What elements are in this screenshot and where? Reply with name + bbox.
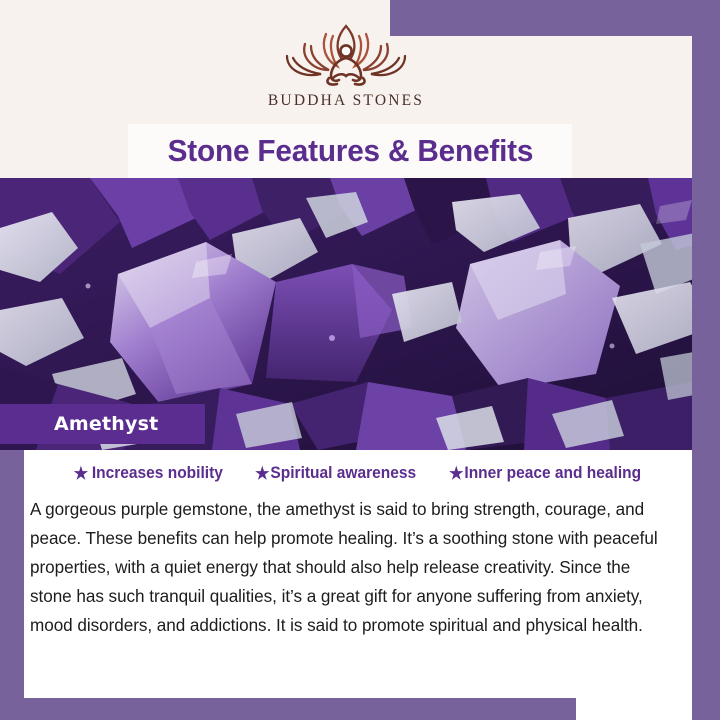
page-title: Stone Features & Benefits: [167, 133, 533, 169]
frame-top-bar: [390, 0, 720, 36]
stone-description: A gorgeous purple gemstone, the amethyst…: [30, 495, 672, 640]
benefits-list: ★ Increases nobility ★ Spiritual awarene…: [24, 450, 692, 483]
content-panel: ★ Increases nobility ★ Spiritual awarene…: [24, 450, 692, 698]
star-icon: ★: [255, 465, 269, 482]
benefit-label: Spiritual awareness: [270, 464, 416, 483]
title-band: Stone Features & Benefits: [128, 124, 572, 178]
star-icon: ★: [74, 465, 88, 482]
star-icon: ★: [449, 465, 463, 482]
product-infographic: BUDDHA STONES Stone Features & Benefits …: [0, 0, 720, 720]
benefit-item: ★ Inner peace and healing: [449, 464, 641, 483]
benefit-label: Inner peace and healing: [464, 464, 641, 483]
brand-name: BUDDHA STONES: [0, 92, 692, 110]
frame-bottom-notch: [576, 698, 692, 720]
stone-name: Amethyst: [54, 413, 158, 435]
benefit-item: ★ Spiritual awareness: [255, 464, 416, 483]
frame-left-bar: [0, 450, 24, 720]
benefit-item: ★ Increases nobility: [74, 464, 223, 483]
frame-right-bar: [692, 0, 720, 720]
benefit-label: Increases nobility: [92, 464, 223, 483]
stone-name-bar: Amethyst: [0, 404, 205, 444]
